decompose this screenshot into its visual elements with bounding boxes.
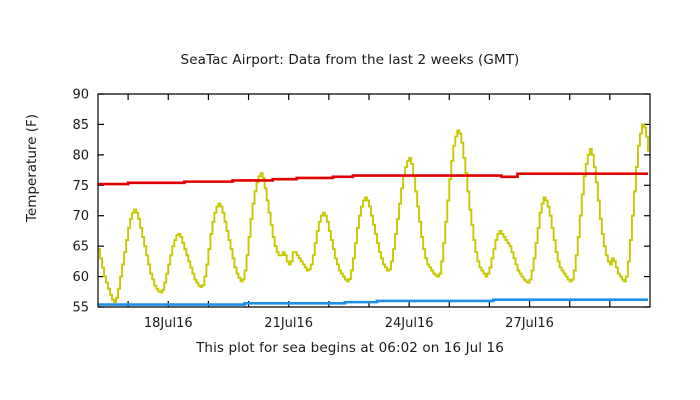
y-axis-tick-labels: 5560657075808590 [72, 88, 89, 316]
x-tick-label: 24Jul16 [385, 316, 434, 331]
y-tick-label: 60 [72, 270, 89, 285]
x-axis-tick-labels: 18Jul1621Jul1624Jul1627Jul16 [144, 316, 554, 331]
y-tick-label: 90 [72, 88, 89, 103]
y-tick-label: 65 [72, 240, 89, 255]
data-series-group [98, 124, 648, 304]
axis-tick-marks [98, 94, 650, 307]
series-line [98, 124, 648, 302]
series-line [98, 174, 648, 184]
x-tick-label: 27Jul16 [505, 316, 554, 331]
y-tick-label: 85 [72, 118, 89, 133]
series-line [98, 300, 648, 305]
x-tick-label: 18Jul16 [144, 316, 193, 331]
plot-frame [98, 94, 650, 307]
y-tick-label: 55 [72, 301, 89, 316]
x-tick-label: 21Jul16 [264, 316, 313, 331]
y-tick-label: 70 [72, 209, 89, 224]
y-tick-label: 80 [72, 148, 89, 163]
temperature-chart: SeaTac Airport: Data from the last 2 wee… [0, 0, 700, 400]
y-tick-label: 75 [72, 179, 89, 194]
chart-caption: This plot for sea begins at 06:02 on 16 … [0, 340, 700, 356]
